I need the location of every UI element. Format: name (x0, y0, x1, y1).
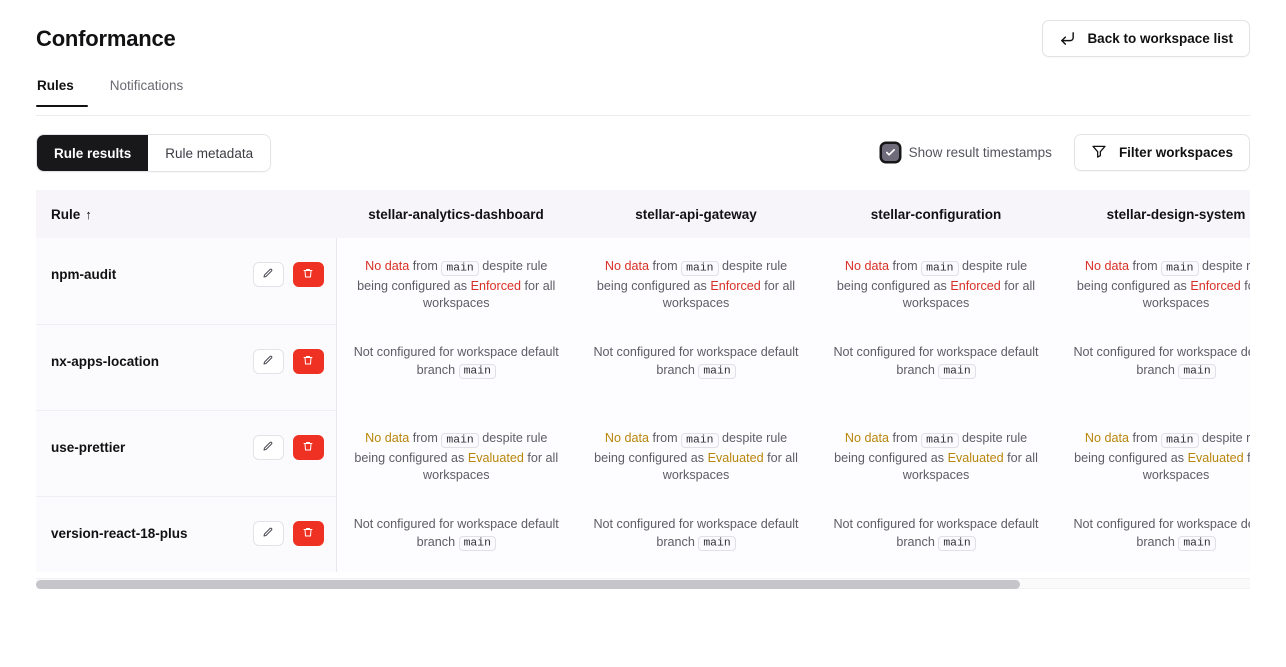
edit-rule-button[interactable] (253, 435, 284, 460)
toolbar: Rule results Rule metadata Show result t… (36, 134, 1250, 174)
status-keyword: No data (845, 431, 889, 445)
view-mode-segmented-control: Rule results Rule metadata (36, 134, 271, 172)
branch-badge: main (459, 364, 496, 379)
pencil-icon (262, 526, 274, 541)
rule-cell: npm-audit (36, 238, 336, 324)
delete-rule-button[interactable] (293, 262, 324, 287)
pencil-icon (262, 440, 274, 455)
result-cell: No data from main despite rule being con… (336, 410, 576, 496)
branch-badge: main (1161, 261, 1198, 276)
cell-message: No data from main despite rule being con… (832, 258, 1040, 313)
branch-badge: main (921, 433, 958, 448)
arrow-uturn-left-icon (1059, 30, 1076, 47)
tab-bar: Rules Notifications (36, 78, 1250, 116)
status-keyword: No data (365, 431, 409, 445)
conformance-table-container: Rule↑ stellar-analytics-dashboard stella… (36, 190, 1250, 572)
back-button-label: Back to workspace list (1087, 31, 1233, 46)
cell-message: No data from main despite rule being con… (353, 258, 561, 313)
branch-badge: main (1178, 536, 1215, 551)
cell-message: No data from main despite rule being con… (1072, 258, 1250, 313)
delete-rule-button[interactable] (293, 349, 324, 374)
conformance-table: Rule↑ stellar-analytics-dashboard stella… (36, 190, 1250, 572)
result-cell: No data from main despite rule being con… (336, 238, 576, 324)
branch-badge: main (921, 261, 958, 276)
config-keyword: Evaluated (708, 451, 764, 465)
edit-rule-button[interactable] (253, 521, 284, 546)
branch-badge: main (441, 261, 478, 276)
cell-message: Not configured for workspace default bra… (832, 516, 1040, 553)
result-cell: Not configured for workspace default bra… (576, 496, 816, 572)
cell-message: No data from main despite rule being con… (592, 258, 800, 313)
table-row: use-prettierNo data from main despite ru… (36, 410, 1250, 496)
column-header-workspace-1[interactable]: stellar-api-gateway (576, 190, 816, 238)
cell-message: No data from main despite rule being con… (832, 430, 1040, 485)
branch-badge: main (938, 364, 975, 379)
config-keyword: Evaluated (1188, 451, 1244, 465)
branch-badge: main (681, 433, 718, 448)
edit-rule-button[interactable] (253, 262, 284, 287)
rule-actions (253, 349, 324, 374)
status-keyword: No data (605, 431, 649, 445)
trash-icon (302, 354, 314, 369)
horizontal-scrollbar-thumb[interactable] (36, 580, 1020, 589)
delete-rule-button[interactable] (293, 435, 324, 460)
trash-icon (302, 440, 314, 455)
table-scroll-viewport[interactable]: Rule↑ stellar-analytics-dashboard stella… (36, 190, 1250, 572)
result-cell: No data from main despite rule being con… (1056, 410, 1250, 496)
branch-badge: main (681, 261, 718, 276)
back-to-workspace-list-button[interactable]: Back to workspace list (1042, 20, 1250, 57)
result-cell: Not configured for workspace default bra… (1056, 496, 1250, 572)
branch-badge: main (441, 433, 478, 448)
toolbar-right-group: Show result timestamps Filter workspaces (882, 134, 1250, 171)
tab-notifications[interactable]: Notifications (110, 78, 198, 106)
rule-name: version-react-18-plus (51, 526, 188, 541)
branch-badge: main (1178, 364, 1215, 379)
show-result-timestamps-checkbox[interactable]: Show result timestamps (882, 144, 1052, 161)
result-cell: Not configured for workspace default bra… (816, 496, 1056, 572)
cell-message: Not configured for workspace default bra… (353, 344, 561, 381)
rule-actions (253, 262, 324, 287)
result-cell: Not configured for workspace default bra… (576, 324, 816, 410)
cell-message: Not configured for workspace default bra… (592, 516, 800, 553)
result-cell: No data from main despite rule being con… (816, 238, 1056, 324)
config-keyword: Enforced (950, 279, 1000, 293)
cell-message: Not configured for workspace default bra… (1072, 344, 1250, 381)
column-header-workspace-3[interactable]: stellar-design-system (1056, 190, 1250, 238)
result-cell: No data from main despite rule being con… (816, 410, 1056, 496)
table-row: nx-apps-locationNot configured for works… (36, 324, 1250, 410)
rule-actions (253, 521, 324, 546)
cell-message: No data from main despite rule being con… (592, 430, 800, 485)
result-cell: No data from main despite rule being con… (1056, 238, 1250, 324)
checkbox-checked-icon[interactable] (882, 144, 899, 161)
branch-badge: main (938, 536, 975, 551)
status-keyword: No data (365, 259, 409, 273)
segment-rule-results[interactable]: Rule results (37, 135, 148, 171)
result-cell: Not configured for workspace default bra… (336, 496, 576, 572)
page-title: Conformance (36, 26, 176, 52)
show-result-timestamps-label: Show result timestamps (909, 145, 1052, 160)
config-keyword: Enforced (710, 279, 760, 293)
branch-badge: main (698, 364, 735, 379)
status-keyword: No data (1085, 259, 1129, 273)
cell-message: Not configured for workspace default bra… (832, 344, 1040, 381)
horizontal-scrollbar[interactable] (36, 578, 1250, 589)
config-keyword: Evaluated (468, 451, 524, 465)
status-keyword: No data (605, 259, 649, 273)
result-cell: Not configured for workspace default bra… (336, 324, 576, 410)
table-body: npm-auditNo data from main despite rule … (36, 238, 1250, 572)
filter-workspaces-label: Filter workspaces (1119, 145, 1233, 160)
config-keyword: Evaluated (948, 451, 1004, 465)
column-header-workspace-0[interactable]: stellar-analytics-dashboard (336, 190, 576, 238)
funnel-icon (1091, 143, 1107, 162)
result-cell: No data from main despite rule being con… (576, 410, 816, 496)
config-keyword: Enforced (1190, 279, 1240, 293)
result-cell: Not configured for workspace default bra… (1056, 324, 1250, 410)
cell-message: No data from main despite rule being con… (353, 430, 561, 485)
table-header: Rule↑ stellar-analytics-dashboard stella… (36, 190, 1250, 238)
table-header-row: Rule↑ stellar-analytics-dashboard stella… (36, 190, 1250, 238)
edit-rule-button[interactable] (253, 349, 284, 374)
rule-cell: nx-apps-location (36, 324, 336, 410)
rule-actions (253, 435, 324, 460)
cell-message: Not configured for workspace default bra… (353, 516, 561, 553)
cell-message: Not configured for workspace default bra… (592, 344, 800, 381)
column-header-rule[interactable]: Rule↑ (36, 190, 336, 238)
config-keyword: Enforced (471, 279, 521, 293)
column-header-rule-label: Rule (51, 207, 80, 222)
branch-badge: main (459, 536, 496, 551)
table-row: version-react-18-plusNot configured for … (36, 496, 1250, 572)
sort-ascending-icon: ↑ (85, 207, 92, 222)
branch-badge: main (1161, 433, 1198, 448)
branch-badge: main (698, 536, 735, 551)
status-keyword: No data (1085, 431, 1129, 445)
trash-icon (302, 267, 314, 282)
table-row: npm-auditNo data from main despite rule … (36, 238, 1250, 324)
page-header: Conformance Back to workspace list (0, 0, 1286, 78)
pencil-icon (262, 354, 274, 369)
cell-message: Not configured for workspace default bra… (1072, 516, 1250, 553)
status-keyword: No data (845, 259, 889, 273)
result-cell: Not configured for workspace default bra… (816, 324, 1056, 410)
rule-name: nx-apps-location (51, 354, 159, 369)
rule-cell: use-prettier (36, 410, 336, 496)
rule-name: npm-audit (51, 267, 116, 282)
segment-rule-metadata[interactable]: Rule metadata (148, 135, 270, 171)
column-header-workspace-2[interactable]: stellar-configuration (816, 190, 1056, 238)
trash-icon (302, 526, 314, 541)
cell-message: No data from main despite rule being con… (1072, 430, 1250, 485)
filter-workspaces-button[interactable]: Filter workspaces (1074, 134, 1250, 171)
rule-cell: version-react-18-plus (36, 496, 336, 572)
pencil-icon (262, 267, 274, 282)
delete-rule-button[interactable] (293, 521, 324, 546)
result-cell: No data from main despite rule being con… (576, 238, 816, 324)
rule-name: use-prettier (51, 440, 125, 455)
tab-rules[interactable]: Rules (36, 78, 88, 106)
